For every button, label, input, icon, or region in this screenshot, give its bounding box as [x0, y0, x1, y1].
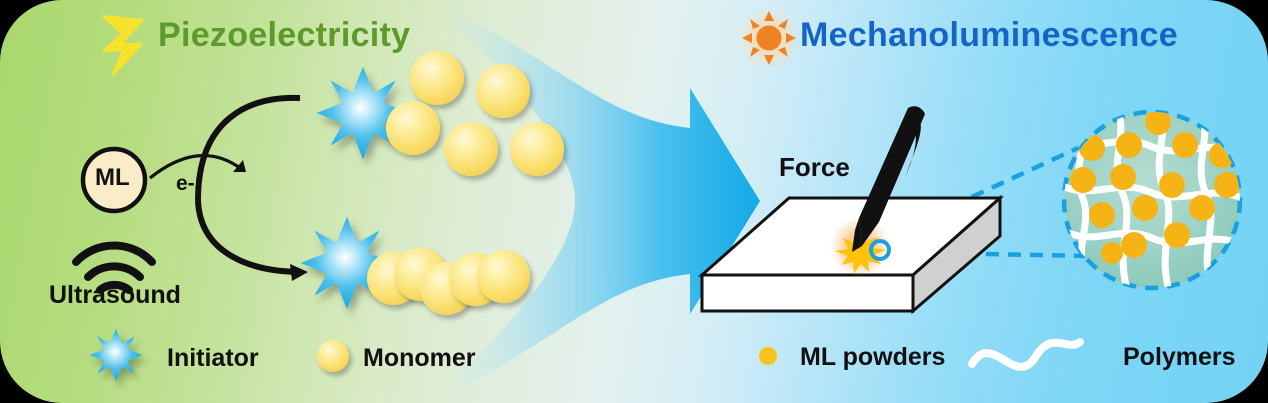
legend-label-monomer: Monomer: [363, 344, 476, 373]
legend-monomer-sphere-icon: [317, 340, 349, 372]
legend-star-burst-icon: [90, 329, 143, 382]
page-title-right: Mechanoluminescence: [800, 16, 1178, 55]
legend-polymer-wave-icon: [972, 342, 1080, 367]
legend-ml-powder-dot-icon: [759, 347, 777, 365]
legend-icons: [0, 0, 1268, 403]
page-title-left: Piezoelectricity: [158, 16, 410, 55]
legend-label-initiator: Initiator: [167, 344, 259, 373]
legend-label-ml-powders: ML powders: [800, 343, 945, 372]
ultrasound-label: Ultrasound: [49, 281, 181, 310]
force-label: Force: [779, 152, 850, 183]
figure-canvas: Piezoelectricity Mechanoluminescence ML …: [0, 0, 1268, 403]
electron-label: e-: [176, 172, 195, 196]
ml-source-label: ML: [95, 164, 130, 192]
legend-label-polymers: Polymers: [1123, 343, 1236, 372]
